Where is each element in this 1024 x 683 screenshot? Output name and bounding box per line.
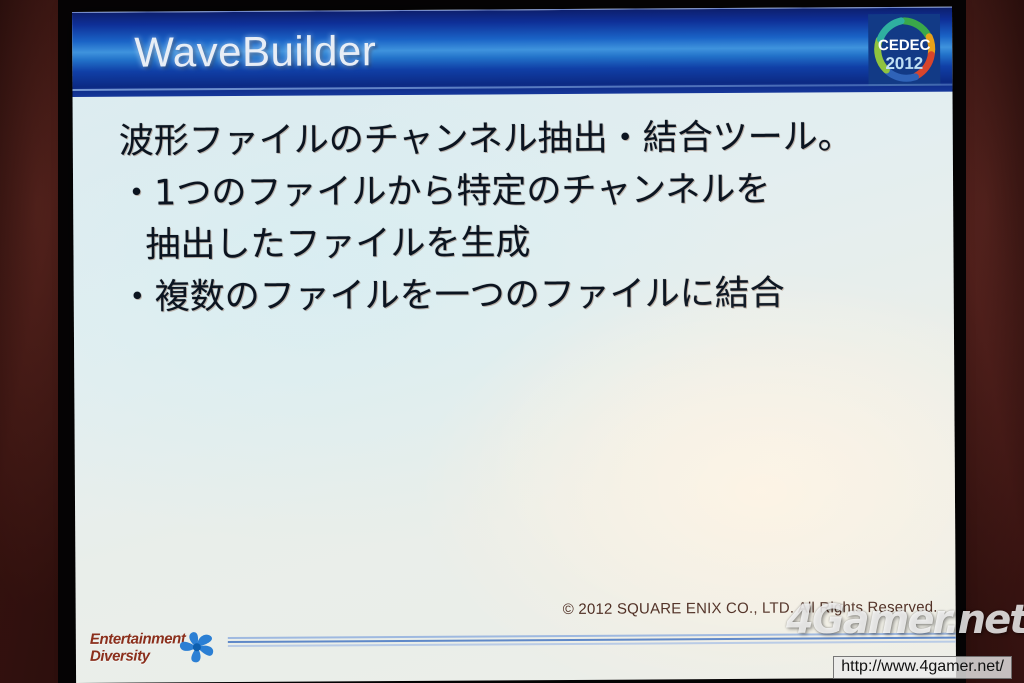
entertainment-diversity-logo: Entertainment Diversity xyxy=(90,628,220,669)
swirl-icon xyxy=(178,630,216,664)
screenshot-root: WaveBuilder CEDEC 2012 xyxy=(0,0,1024,683)
body-line-2: ・1つのファイルから特定のチャンネルを xyxy=(119,163,929,220)
body-line-1: 波形ファイルのチャンネル抽出・結合ツール。 xyxy=(119,111,929,168)
slide-title-bar: WaveBuilder CEDEC 2012 xyxy=(72,7,953,97)
projector-glare xyxy=(72,7,956,683)
entertainment-diversity-wordmark: Entertainment Diversity xyxy=(90,630,186,665)
body-line-3: 抽出したファイルを生成 xyxy=(119,215,929,272)
presentation-slide: WaveBuilder CEDEC 2012 xyxy=(72,7,956,683)
cedec-logo-icon: CEDEC 2012 xyxy=(868,14,940,86)
slide-body: 波形ファイルのチャンネル抽出・結合ツール。 ・1つのファイルから特定のチャンネル… xyxy=(119,111,930,324)
brand-line-2: Diversity xyxy=(90,647,186,665)
brand-line-1: Entertainment xyxy=(90,630,186,648)
cedec-logo-line2: 2012 xyxy=(885,54,923,73)
slide-title: WaveBuilder xyxy=(134,27,376,76)
4gamer-url-label: http://www.4gamer.net/ xyxy=(833,656,1012,679)
body-line-4: ・複数のファイルを一つのファイルに結合 xyxy=(120,267,930,324)
cedec-logo-line1: CEDEC xyxy=(878,37,931,54)
4gamer-watermark: 4Gamer.net xyxy=(786,597,1018,643)
